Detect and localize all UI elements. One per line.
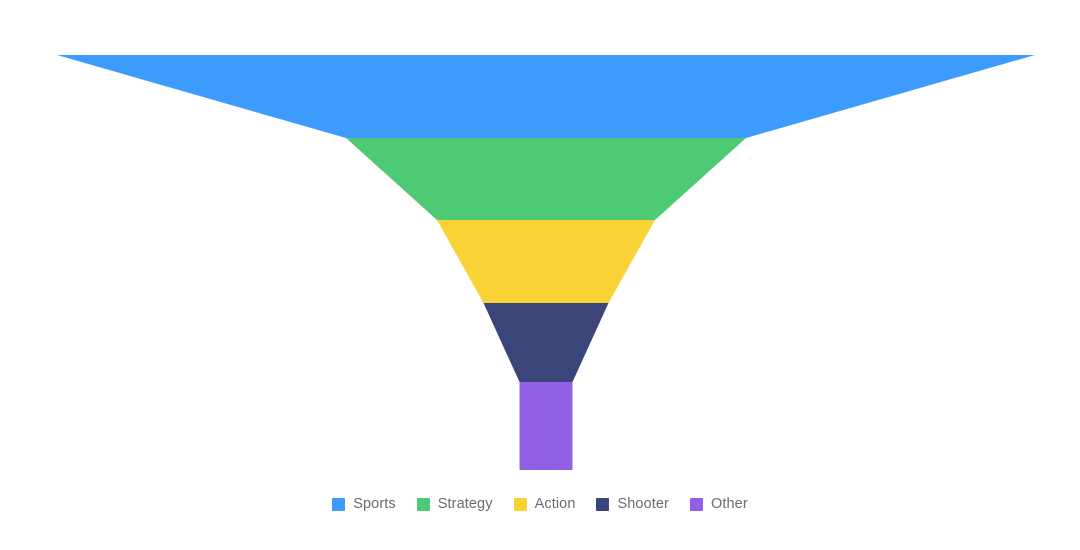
funnel-segment-group	[57, 55, 1035, 470]
legend-label: Shooter	[617, 497, 669, 512]
funnel-segment-sports[interactable]	[57, 55, 1035, 138]
funnel-svg	[0, 0, 1080, 490]
legend-item-action[interactable]: Action	[514, 497, 576, 512]
legend-item-sports[interactable]: Sports	[332, 497, 396, 512]
legend-swatch-icon	[514, 498, 527, 511]
legend-swatch-icon	[332, 498, 345, 511]
funnel-segment-strategy[interactable]	[346, 138, 746, 220]
legend-item-shooter[interactable]: Shooter	[596, 497, 669, 512]
legend-swatch-icon	[690, 498, 703, 511]
legend-label: Other	[711, 497, 748, 512]
funnel-segment-other[interactable]	[520, 382, 573, 470]
legend-label: Sports	[353, 497, 396, 512]
legend-swatch-icon	[417, 498, 430, 511]
funnel-segment-shooter[interactable]	[484, 303, 609, 382]
legend-swatch-icon	[596, 498, 609, 511]
chart-legend: SportsStrategyActionShooterOther	[0, 490, 1080, 550]
legend-label: Strategy	[438, 497, 493, 512]
funnel-plot-area	[0, 0, 1080, 490]
legend-item-strategy[interactable]: Strategy	[417, 497, 493, 512]
legend-item-other[interactable]: Other	[690, 497, 748, 512]
legend-label: Action	[535, 497, 576, 512]
funnel-segment-action[interactable]	[437, 220, 655, 303]
funnel-chart: SportsStrategyActionShooterOther	[0, 0, 1080, 550]
